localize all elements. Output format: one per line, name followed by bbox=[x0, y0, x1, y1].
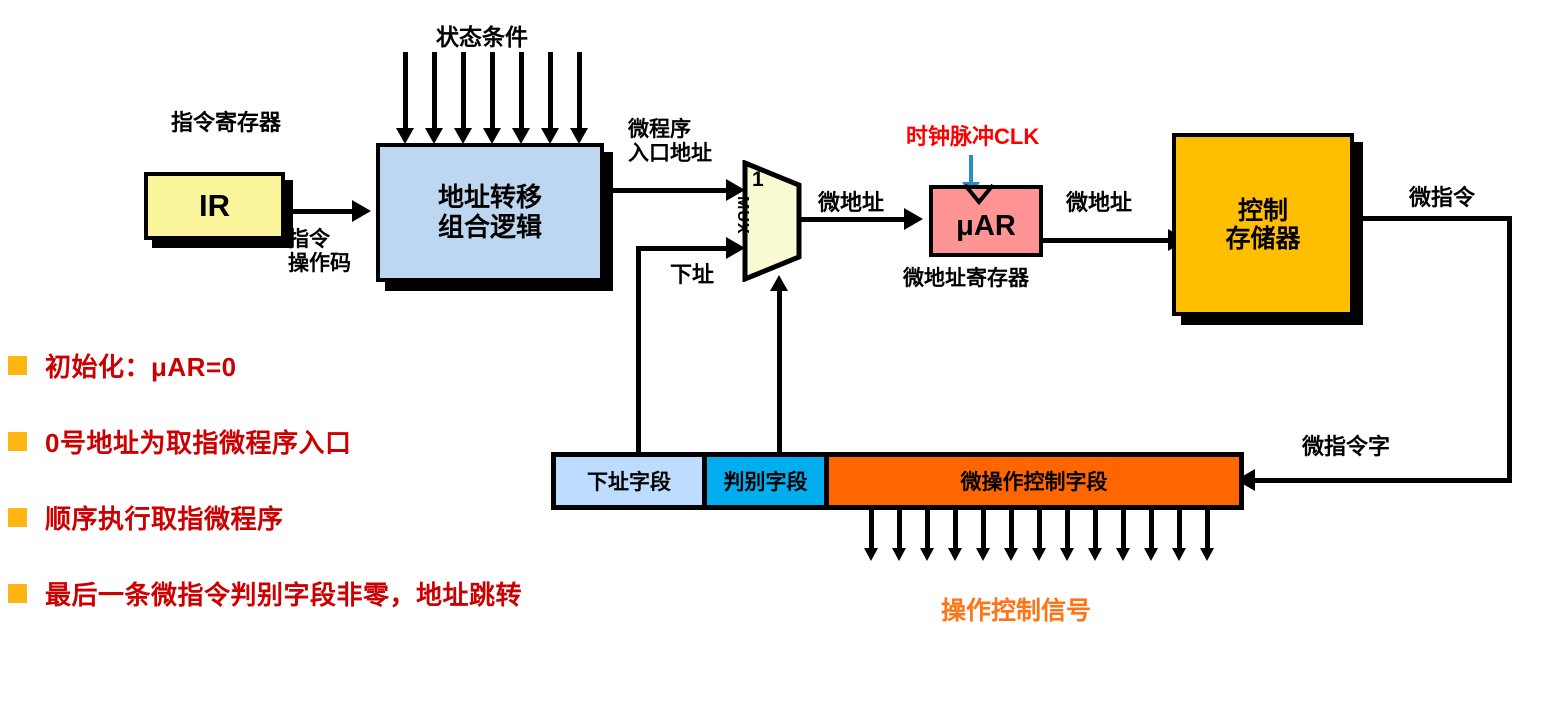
right-to-bar-line bbox=[1255, 478, 1512, 483]
status-condition-label: 状态条件 bbox=[436, 24, 528, 50]
mux-shape[interactable] bbox=[742, 160, 802, 282]
micro-address-label-2: 微地址 bbox=[1066, 190, 1132, 215]
control-store-label: 控制 存储器 bbox=[1225, 197, 1300, 253]
microprogram-entry-address-label: 微程序 入口地址 bbox=[628, 118, 712, 166]
clock-pulse-line bbox=[969, 155, 973, 185]
instruction-opcode-label: 指令 操作码 bbox=[288, 228, 351, 276]
bullet-text: 初始化：μAR=0 bbox=[45, 347, 237, 384]
next-address-to-mux-line bbox=[638, 246, 729, 251]
uar-to-store-line bbox=[1043, 238, 1171, 243]
discriminate-feedback-arrowhead bbox=[770, 275, 788, 291]
list-item: 初始化：μAR=0 bbox=[8, 348, 808, 382]
mux-select-label: 1 bbox=[752, 168, 764, 192]
ir-to-logic-line bbox=[285, 209, 355, 214]
micro-instruction-label: 微指令 bbox=[1409, 185, 1475, 210]
diagram-canvas: 状态条件 指令寄存器 IR 指令 操作码 地址转移 组合逻辑 微程序 入口地址 … bbox=[0, 0, 1560, 702]
bullet-square-icon bbox=[8, 432, 27, 451]
addr-logic-label: 地址转移 组合逻辑 bbox=[438, 183, 542, 241]
bullet-text: 顺序执行取指微程序 bbox=[45, 499, 284, 536]
right-down-line bbox=[1507, 216, 1512, 482]
bullet-text: 最后一条微指令判别字段非零，地址跳转 bbox=[45, 575, 522, 612]
clock-edge-notch-icon bbox=[962, 183, 996, 210]
mux-name-label: MUX bbox=[733, 196, 751, 235]
list-item: 最后一条微指令判别字段非零，地址跳转 bbox=[8, 576, 808, 610]
next-address-to-mux-arrowhead bbox=[726, 237, 745, 259]
uar-caption: 微地址寄存器 bbox=[903, 267, 1029, 291]
ir-to-logic-arrowhead bbox=[352, 200, 371, 222]
bullet-square-icon bbox=[8, 584, 27, 603]
list-item: 顺序执行取指微程序 bbox=[8, 500, 808, 534]
word-bar-segment-micro-operation[interactable]: 微操作控制字段 bbox=[824, 457, 1239, 505]
mux-to-uar-arrowhead bbox=[904, 208, 923, 230]
list-item: 0号地址为取指微程序入口 bbox=[8, 424, 808, 458]
clock-pulse-label: 时钟脉冲CLK bbox=[906, 124, 1039, 149]
logic-to-mux-line bbox=[604, 188, 729, 193]
bullet-list: 初始化：μAR=0 0号地址为取指微程序入口 顺序执行取指微程序 最后一条微指令… bbox=[8, 348, 808, 652]
ir-box[interactable]: IR bbox=[144, 172, 285, 240]
control-store-box[interactable]: 控制 存储器 bbox=[1172, 133, 1354, 316]
addr-logic-box[interactable]: 地址转移 组合逻辑 bbox=[376, 143, 604, 282]
bullet-square-icon bbox=[8, 356, 27, 375]
micro-address-label-1: 微地址 bbox=[818, 190, 884, 215]
store-to-right-line bbox=[1354, 216, 1512, 221]
operation-control-signal-label: 操作控制信号 bbox=[941, 597, 1091, 626]
micro-instruction-word-label: 微指令字 bbox=[1302, 434, 1390, 459]
uar-label: μAR bbox=[956, 210, 1016, 242]
next-address-label: 下址 bbox=[670, 262, 714, 287]
bullet-square-icon bbox=[8, 508, 27, 527]
bullet-text: 0号地址为取指微程序入口 bbox=[45, 423, 351, 460]
mux-to-uar-line bbox=[797, 217, 907, 222]
instruction-register-caption: 指令寄存器 bbox=[171, 110, 281, 135]
